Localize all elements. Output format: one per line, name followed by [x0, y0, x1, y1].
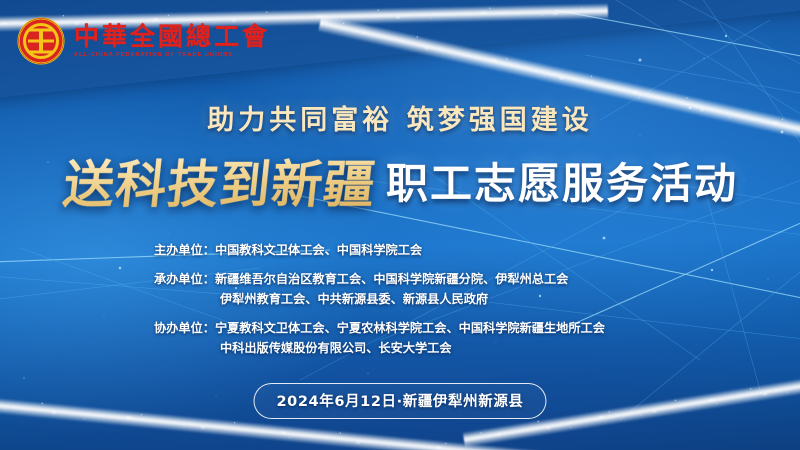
- title-rest: 职工志愿服务活动: [386, 150, 738, 211]
- organizer-label: 协办单位：: [154, 318, 215, 338]
- title-highlight: 送科技到新疆: [58, 143, 382, 217]
- date-location-badge: 2024年6月12日·新疆伊犁州新源县: [253, 383, 546, 419]
- organizer-block: 主办单位： 中国教科文卫体工会、中国科学院工会 承办单位： 新疆维吾尔自治区教育…: [0, 240, 800, 367]
- organizer-value: 宁夏教科文卫体工会、宁夏农林科学院工会、中国科学院新疆生地所工会: [215, 318, 605, 338]
- organizer-value: 中科出版传媒股份有限公司、长安大学工会: [220, 338, 452, 358]
- organizer-value: 新疆维吾尔自治区教育工会、中国科学院新疆分院、伊犁州总工会: [215, 269, 568, 289]
- organizer-line: 主办单位： 中国教科文卫体工会、中国科学院工会: [154, 240, 646, 260]
- organizer-indent: [154, 289, 220, 309]
- organizer-group: 承办单位： 新疆维吾尔自治区教育工会、中国科学院新疆分院、伊犁州总工会 伊犁州教…: [154, 269, 646, 309]
- poster-canvas: 中華全國總工會 ALL-CHINA FEDERATION OF TRADE UN…: [0, 0, 800, 450]
- organizer-value: 中国教科文卫体工会、中国科学院工会: [215, 240, 422, 260]
- organizer-label: 承办单位：: [154, 269, 215, 289]
- poster-subtitle: 助力共同富裕 筑梦强国建设: [0, 98, 800, 137]
- organizer-line: 中科出版传媒股份有限公司、长安大学工会: [154, 338, 646, 358]
- organizer-group: 协办单位： 宁夏教科文卫体工会、宁夏农林科学院工会、中国科学院新疆生地所工会 中…: [154, 318, 646, 358]
- organizer-line: 伊犁州教育工会、中共新源县委、新源县人民政府: [154, 289, 646, 309]
- organizer-indent: [154, 338, 220, 358]
- organizer-value: 伊犁州教育工会、中共新源县委、新源县人民政府: [220, 289, 488, 309]
- poster-title: 送科技到新疆 职工志愿服务活动: [0, 143, 800, 217]
- organizer-line: 承办单位： 新疆维吾尔自治区教育工会、中国科学院新疆分院、伊犁州总工会: [154, 269, 646, 289]
- poster-content: 助力共同富裕 筑梦强国建设 送科技到新疆 职工志愿服务活动 主办单位： 中国教科…: [0, 0, 800, 450]
- organizer-label: 主办单位：: [154, 240, 215, 260]
- organizer-group: 主办单位： 中国教科文卫体工会、中国科学院工会: [154, 240, 646, 260]
- organizer-line: 协办单位： 宁夏教科文卫体工会、宁夏农林科学院工会、中国科学院新疆生地所工会: [154, 318, 646, 338]
